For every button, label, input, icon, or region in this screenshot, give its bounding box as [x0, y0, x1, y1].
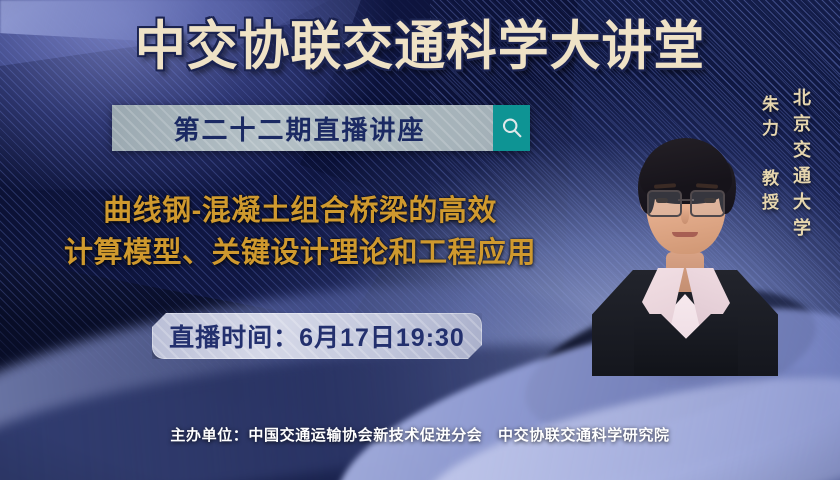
- webinar-poster: 中交协联交通科学大讲堂 第二十二期直播讲座 曲线钢-混凝土组合桥梁的高效 计算模…: [0, 0, 840, 480]
- search-icon: [500, 116, 524, 140]
- portrait-nose: [681, 208, 689, 224]
- speaker-affiliation: 北京交通大学: [788, 88, 814, 244]
- lecture-headline: 曲线钢-混凝土组合桥梁的高效 计算模型、关键设计理论和工程应用: [0, 190, 600, 274]
- search-button[interactable]: [493, 105, 530, 151]
- headline-line-2: 计算模型、关键设计理论和工程应用: [0, 232, 600, 274]
- portrait-mouth: [672, 232, 698, 237]
- content-layer: 中交协联交通科学大讲堂 第二十二期直播讲座 曲线钢-混凝土组合桥梁的高效 计算模…: [0, 0, 840, 480]
- headline-line-1: 曲线钢-混凝土组合桥梁的高效: [0, 190, 600, 232]
- speaker-name-title: 朱力 教授: [756, 95, 781, 217]
- speaker-portrait: [590, 118, 780, 373]
- subtitle-bar-label: 第二十二期直播讲座: [112, 105, 493, 151]
- masthead-title: 中交协联交通科学大讲堂: [17, 18, 823, 76]
- subtitle-bar: 第二十二期直播讲座: [112, 105, 530, 151]
- broadcast-time-badge: 直播时间：6月17日19:30: [152, 313, 482, 359]
- organizer-footer: 主办单位：中国交通运输协会新技术促进分会 中交协联交通科学研究院: [0, 424, 840, 445]
